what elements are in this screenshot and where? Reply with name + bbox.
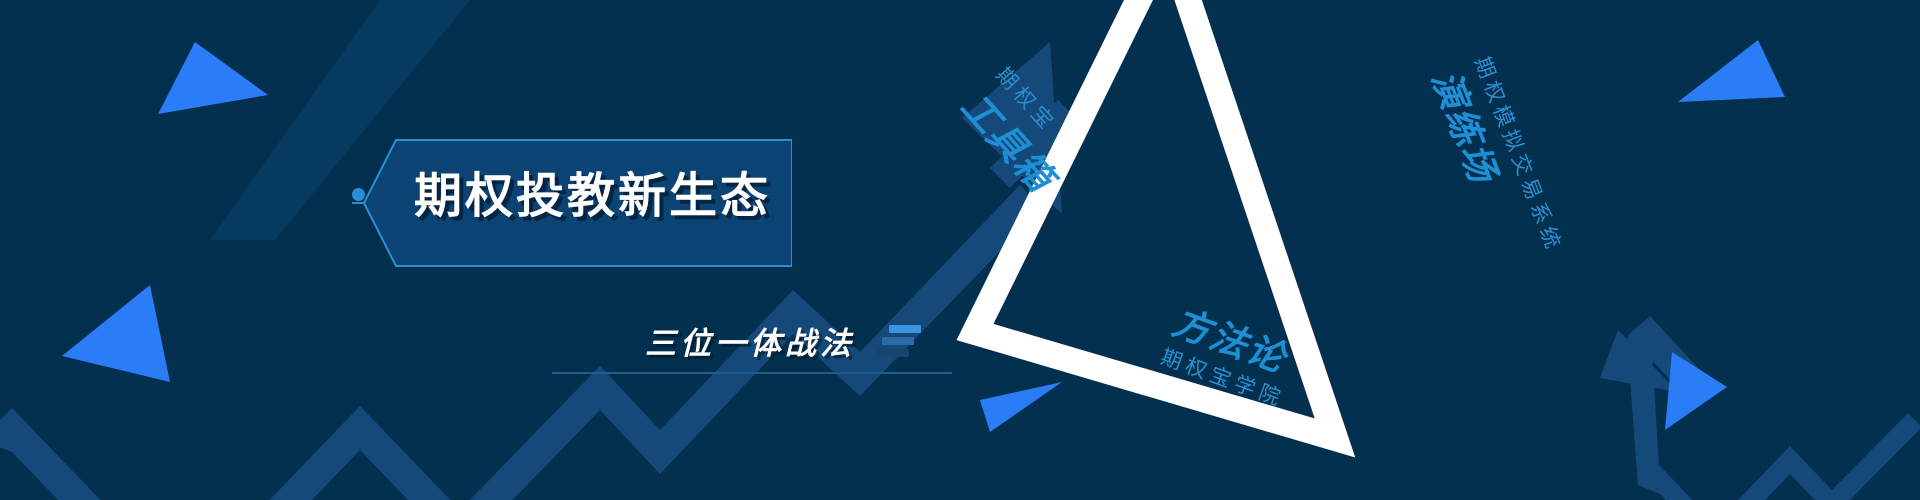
subheadline-text: 三位一体战法 [645, 318, 855, 363]
subheadline-row: 三位一体战法 [645, 318, 921, 363]
bar-middle-icon [882, 337, 914, 345]
page-title: 期权投教新生态 [414, 156, 771, 226]
promo-banner: 期权投教新生态 三位一体战法 期权宝 工具箱 期权模拟交易系统 演练场 方法论 … [0, 0, 1920, 500]
background-decorations [0, 0, 1920, 500]
subheadline-underline [552, 372, 952, 374]
bar-top-icon [889, 325, 921, 333]
bar-bottom-icon [877, 349, 909, 357]
bar-stack-icon [877, 324, 921, 358]
headline-connector-dot [352, 188, 365, 201]
headline-block: 期权投教新生态 [352, 128, 792, 278]
